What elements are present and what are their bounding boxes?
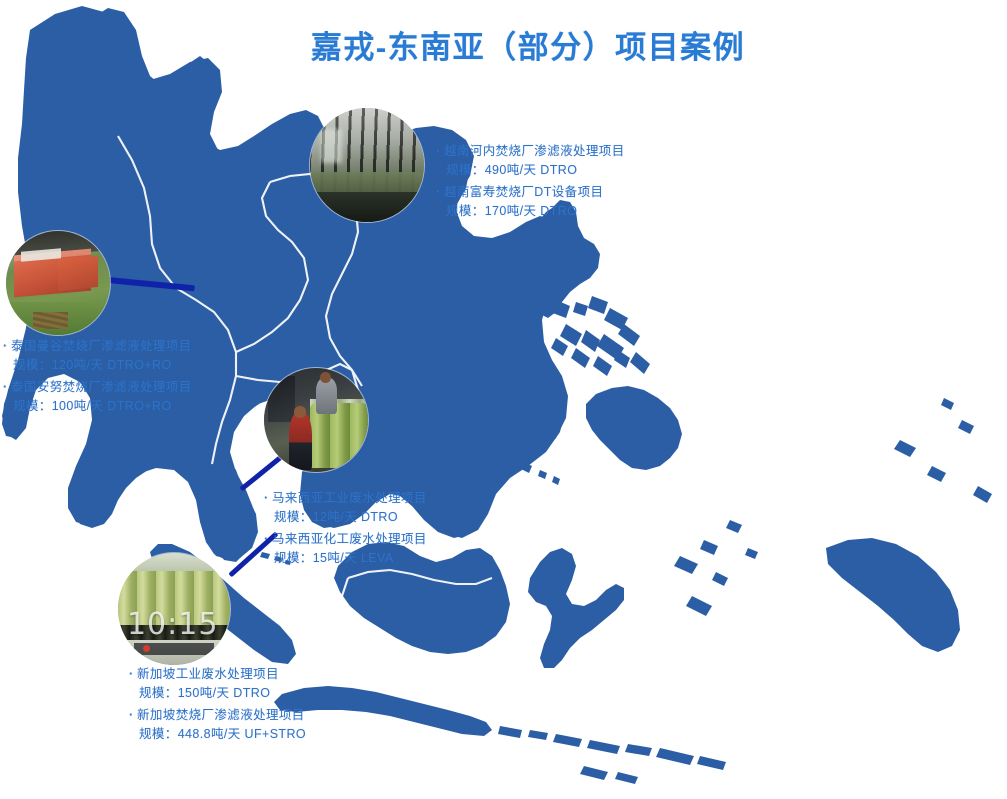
thailand-project-photo[interactable] xyxy=(6,231,110,335)
caption-entry: 越南富寿焚烧厂DT设备项目 规模：170吨/天 DTRO xyxy=(437,183,625,221)
slide-canvas: 嘉戎-东南亚（部分）项目案例 xyxy=(0,0,1007,799)
page-title: 嘉戎-东南亚（部分）项目案例 xyxy=(268,22,788,67)
eastern-small-islands xyxy=(894,398,992,503)
project-name: 马来西亚化工废水处理项目 xyxy=(265,530,427,549)
caption-entry: 泰国安努焚烧厂渗滤液处理项目 规模：100吨/天 DTRO+RO xyxy=(4,378,192,416)
caption-malaysia: 马来西亚工业废水处理项目 规模：12吨/天 DTRO 马来西亚化工废水处理项目 … xyxy=(265,489,427,571)
project-name: 越南富寿焚烧厂DT设备项目 xyxy=(437,183,625,202)
photo-worker-head-upper xyxy=(320,372,330,382)
caption-entry: 越南河内焚烧厂渗滤液处理项目 规模：490吨/天 DTRO xyxy=(437,142,625,180)
caption-singapore: 新加坡工业废水处理项目 规模：150吨/天 DTRO 新加坡焚烧厂渗滤液处理项目… xyxy=(130,665,306,747)
project-spec: 规模：120吨/天 DTRO+RO xyxy=(4,356,192,375)
photo-worker-red xyxy=(289,412,312,470)
thailand-photo-image xyxy=(6,231,110,335)
singapore-project-photo[interactable]: 10:15 xyxy=(118,553,230,665)
project-name: 泰国曼谷焚烧厂渗滤液处理项目 xyxy=(4,337,192,356)
caption-thailand: 泰国曼谷焚烧厂渗滤液处理项目 规模：120吨/天 DTRO+RO 泰国安努焚烧厂… xyxy=(4,337,192,419)
java xyxy=(274,686,492,736)
photo-highlight xyxy=(321,129,342,163)
project-spec: 规模：170吨/天 DTRO xyxy=(437,202,625,221)
maluku-islands xyxy=(674,520,758,616)
vietnam-photo-image xyxy=(310,108,424,222)
project-spec: 规模：12吨/天 DTRO xyxy=(265,508,427,527)
photo-control-panel xyxy=(268,376,295,422)
photo-timestamp: 10:15 xyxy=(127,610,218,640)
caption-entry: 马来西亚工业废水处理项目 规模：12吨/天 DTRO xyxy=(265,489,427,527)
singapore-photo-image: 10:15 xyxy=(118,553,230,665)
caption-vietnam: 越南河内焚烧厂渗滤液处理项目 规模：490吨/天 DTRO 越南富寿焚烧厂DT设… xyxy=(437,142,625,224)
caption-entry: 马来西亚化工废水处理项目 规模：15吨/天 LEVA xyxy=(265,530,427,568)
project-name: 马来西亚工业废水处理项目 xyxy=(265,489,427,508)
project-name: 泰国安努焚烧厂渗滤液处理项目 xyxy=(4,378,192,397)
project-spec: 规模：448.8吨/天 UF+STRO xyxy=(130,725,306,744)
project-spec: 规模：15吨/天 LEVA xyxy=(265,549,427,568)
visayas-islands xyxy=(550,296,650,376)
photo-building-side xyxy=(58,256,98,291)
project-name: 越南河内焚烧厂渗滤液处理项目 xyxy=(437,142,625,161)
photo-worker-head-lower xyxy=(294,406,305,417)
photo-band-lower xyxy=(317,192,420,222)
papua-edge xyxy=(826,538,960,652)
malaysia-photo-image xyxy=(264,368,368,472)
vietnam-project-photo[interactable] xyxy=(310,108,424,222)
photo-ceiling xyxy=(118,553,230,571)
mindanao xyxy=(586,386,682,470)
project-name: 新加坡焚烧厂渗滤液处理项目 xyxy=(130,706,306,725)
caption-entry: 新加坡焚烧厂渗滤液处理项目 规模：448.8吨/天 UF+STRO xyxy=(130,706,306,744)
project-spec: 规模：490吨/天 DTRO xyxy=(437,161,625,180)
sulu-archipelago xyxy=(521,462,560,485)
photo-garden-plot xyxy=(33,312,68,329)
caption-entry: 泰国曼谷焚烧厂渗滤液处理项目 规模：120吨/天 DTRO+RO xyxy=(4,337,192,375)
malaysia-project-photo[interactable] xyxy=(264,368,368,472)
photo-worker-grey xyxy=(316,378,337,413)
photo-watermark-logo xyxy=(143,645,150,652)
project-spec: 规模：100吨/天 DTRO+RO xyxy=(4,397,192,416)
project-spec: 规模：150吨/天 DTRO xyxy=(130,684,306,703)
project-name: 新加坡工业废水处理项目 xyxy=(130,665,306,684)
sulawesi xyxy=(528,548,624,668)
lesser-sunda-islands xyxy=(498,726,726,784)
caption-entry: 新加坡工业废水处理项目 规模：150吨/天 DTRO xyxy=(130,665,306,703)
